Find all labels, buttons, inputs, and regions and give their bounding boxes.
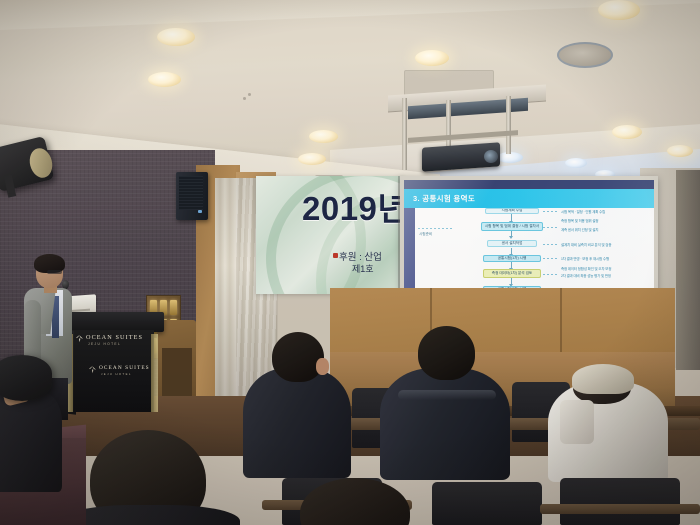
side-chair-seat xyxy=(162,348,192,396)
flow-note: 측정 항목 및 허용 범위 설정 xyxy=(561,218,598,223)
audience-person-shoulder xyxy=(560,400,594,444)
banner-bullet-icon xyxy=(333,253,338,258)
downlight-warm xyxy=(415,50,449,66)
seat-back xyxy=(560,478,680,525)
ceiling-projector-lift xyxy=(388,90,546,172)
projector-crossbar xyxy=(408,130,518,143)
audience-person-body xyxy=(60,505,240,525)
venue-logo-name: OCEAN SUITES xyxy=(86,334,143,341)
downlight-warm xyxy=(298,153,326,165)
flow-note: 1차 결과 반영 · 보정 후 재시험 수행 xyxy=(561,256,609,261)
audience-person-head xyxy=(418,326,475,380)
flow-note: 설계치 대비 실측치 비교 분석 및 검증 xyxy=(561,242,611,247)
presenter-glasses xyxy=(47,270,62,274)
slide-header-title: 3. 공통시험 용역도 xyxy=(413,193,475,204)
downlight-warm xyxy=(612,125,642,139)
speaker-led xyxy=(198,210,202,213)
venue-logo-upper: OCEAN SUITES JEJU HOTEL xyxy=(75,333,155,350)
wall-right-edge xyxy=(676,170,700,370)
leaf-icon xyxy=(75,334,84,343)
banner-subtitle-text: 제1호 xyxy=(352,262,374,275)
audience-person-body xyxy=(243,368,351,478)
flow-node: 시험계획 수립 xyxy=(485,208,539,214)
ceiling-vent-round xyxy=(557,42,613,68)
flow-note: 2차 결과 대비 최종 성능 평가 및 판정 xyxy=(561,273,611,278)
downlight-warm xyxy=(667,145,693,157)
downlight-warm xyxy=(598,0,640,20)
foreground-light-fixture xyxy=(0,355,52,401)
audience-person-ear xyxy=(316,358,329,375)
downlight-warm xyxy=(148,72,181,87)
venue-logo-sub: JEJU HOTEL xyxy=(101,372,132,376)
downlight-warm xyxy=(157,28,195,46)
audience-person-collar xyxy=(398,390,496,400)
projector-pole xyxy=(506,96,511,154)
projector-lens xyxy=(484,150,498,163)
audience-person-head xyxy=(272,332,324,382)
venue-logo-name: OCEAN SUITES xyxy=(99,365,150,371)
leaf-icon xyxy=(88,365,97,374)
slide-top-band xyxy=(404,180,654,189)
audience-person-hair xyxy=(572,364,634,394)
flow-stage-label: 시험준비 xyxy=(419,232,449,236)
flow-node: 공통시험(1차) 시행 xyxy=(483,255,541,262)
flow-note: 측정 데이터 정합성 확인 및 오차 보정 xyxy=(561,266,611,271)
downlight-cool xyxy=(565,158,587,168)
seat-back xyxy=(432,482,542,525)
banner-year-text: 2019년 xyxy=(302,182,408,230)
flow-node-highlight: 측정 데이터(1차) 분석 검토 xyxy=(483,269,541,278)
banner-sponsor-text: 후원 : 산업 xyxy=(339,249,382,263)
flow-note: 계측 센서 위치 선정 및 설치 xyxy=(561,227,598,232)
seat-row-rail xyxy=(540,504,700,514)
flow-note: 시험 목적 · 일정 · 인원 계획 수립 xyxy=(561,209,605,214)
audience-person-body xyxy=(380,368,510,480)
flow-node: 시험 항목 및 범위 결정 / 시험 절차서 xyxy=(481,222,543,231)
venue-logo-sub: JEJU HOTEL xyxy=(88,342,121,346)
photo-scene: 2019년 후원 : 산업 제1호 3. 공통시험 용역도 시험준비 시험 수행… xyxy=(0,0,700,525)
projector-pole xyxy=(402,98,407,170)
foreground-person-body xyxy=(0,392,62,492)
downlight-warm xyxy=(309,130,338,143)
venue-logo-lower: OCEAN SUITES JEJU HOTEL xyxy=(88,364,146,379)
speaker-grille xyxy=(179,176,203,210)
podium-top xyxy=(64,312,164,332)
flow-node: 센서 설치작업 xyxy=(487,240,537,247)
